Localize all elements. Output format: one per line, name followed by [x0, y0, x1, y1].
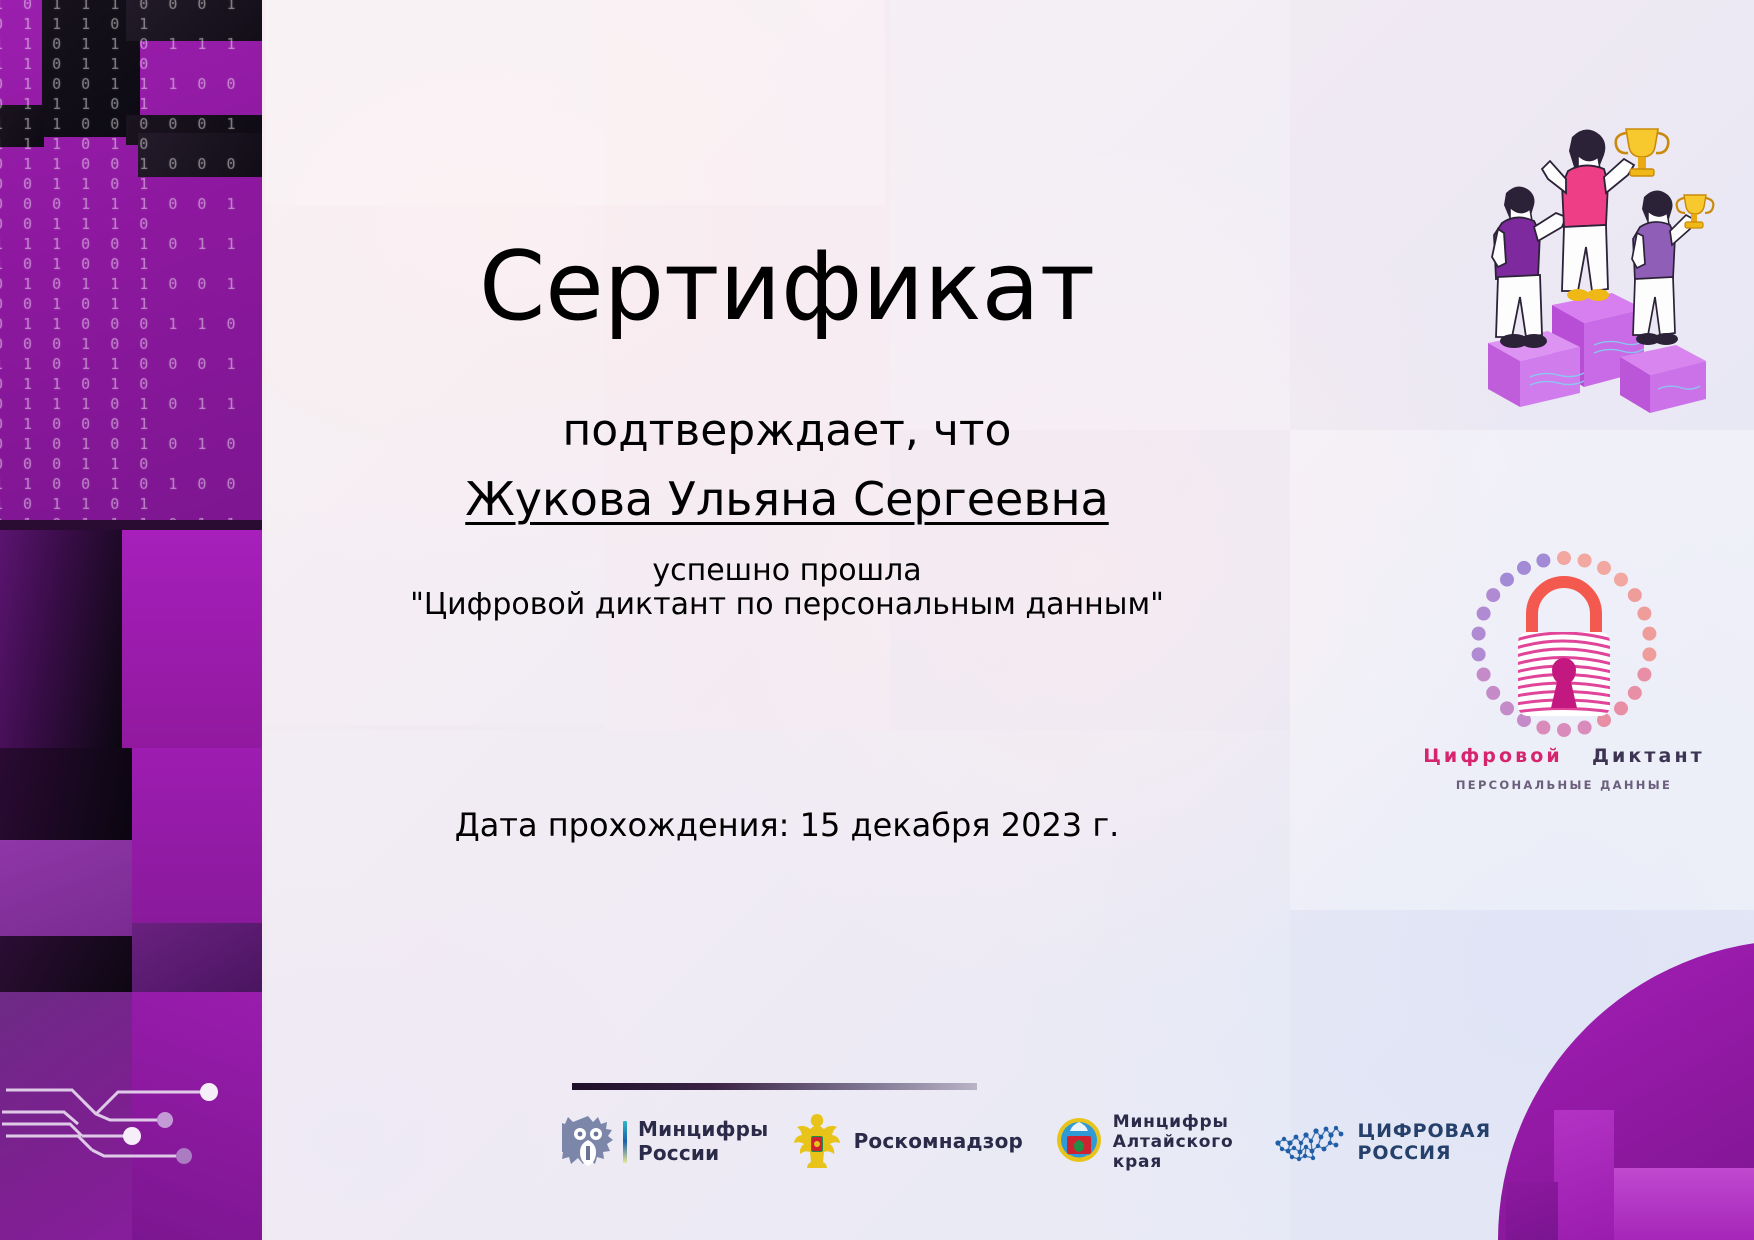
logo-roskomnadzor: Роскомнадзор [792, 1112, 1023, 1172]
logo-label-mincifry-rossii: МинцифрыРоссии [638, 1118, 768, 1165]
footer-divider [572, 1083, 977, 1090]
logo-divider [623, 1121, 627, 1163]
logo-label-roskomnadzor: Роскомнадзор [854, 1130, 1023, 1154]
russia-map-dots-icon [1270, 1115, 1348, 1169]
logo-mincifry-altai: МинцифрыАлтайского края [1055, 1112, 1238, 1172]
logo-mincifry-rossii: МинцифрыРоссии [562, 1112, 768, 1172]
digital-dictation-emblem: Цифровой Диктант ПЕРСОНАЛЬНЫЕ ДАННЫЕ [1384, 540, 1744, 860]
certificate-content: Сертификат подтверждает, что Жукова Улья… [262, 0, 1754, 1240]
recipient-name: Жукова Ульяна Сергеевна [262, 472, 1312, 526]
left-decoration-panel: 1 0 1 1 1 0 0 0 1 0 1 1 1 0 1 1 1 0 1 1 … [0, 0, 262, 1240]
footer-logos: МинцифрыРоссии [562, 1106, 1522, 1178]
circuit-lines-icon [0, 1040, 262, 1240]
padlock-fingerprint-icon [1384, 540, 1744, 750]
completion-date: Дата прохождения: 15 декабря 2023 г. [262, 806, 1312, 844]
page-title: Сертификат [262, 238, 1312, 338]
certificate-page: 1 0 1 1 1 0 0 0 1 0 1 1 1 0 1 1 1 0 1 1 … [0, 0, 1754, 1240]
logo-label-mincifry-altai: МинцифрыАлтайского края [1113, 1112, 1239, 1172]
emblem-word-2: Диктант [1592, 745, 1705, 767]
binary-digits: 1 0 1 1 1 0 0 0 1 0 1 1 1 0 1 1 1 0 1 1 … [0, 0, 262, 520]
altai-krai-coat-of-arms-icon [1055, 1112, 1103, 1172]
emblem-word-1: Цифровой [1423, 745, 1563, 767]
roskomnadzor-eagle-icon [792, 1112, 842, 1172]
logo-cifrovaya-rossiya: ЦИФРОВАЯ РОССИЯ [1270, 1115, 1522, 1169]
passed-line: успешно прошла [262, 553, 1312, 588]
emblem-subtitle: ПЕРСОНАЛЬНЫЕ ДАННЫЕ [1384, 778, 1744, 792]
emblem-wordmark: Цифровой Диктант [1384, 745, 1744, 767]
confirms-line: подтверждает, что [262, 405, 1312, 456]
russia-coat-of-arms-icon [562, 1112, 614, 1172]
binary-code-decoration: 1 0 1 1 1 0 0 0 1 0 1 1 1 0 1 1 1 0 1 1 … [0, 0, 262, 520]
logo-label-cifrovaya-rossiya: ЦИФРОВАЯ РОССИЯ [1358, 1120, 1522, 1165]
winners-podium-illustration [1444, 95, 1744, 425]
course-name: "Цифровой диктант по персональным данным… [262, 587, 1312, 622]
